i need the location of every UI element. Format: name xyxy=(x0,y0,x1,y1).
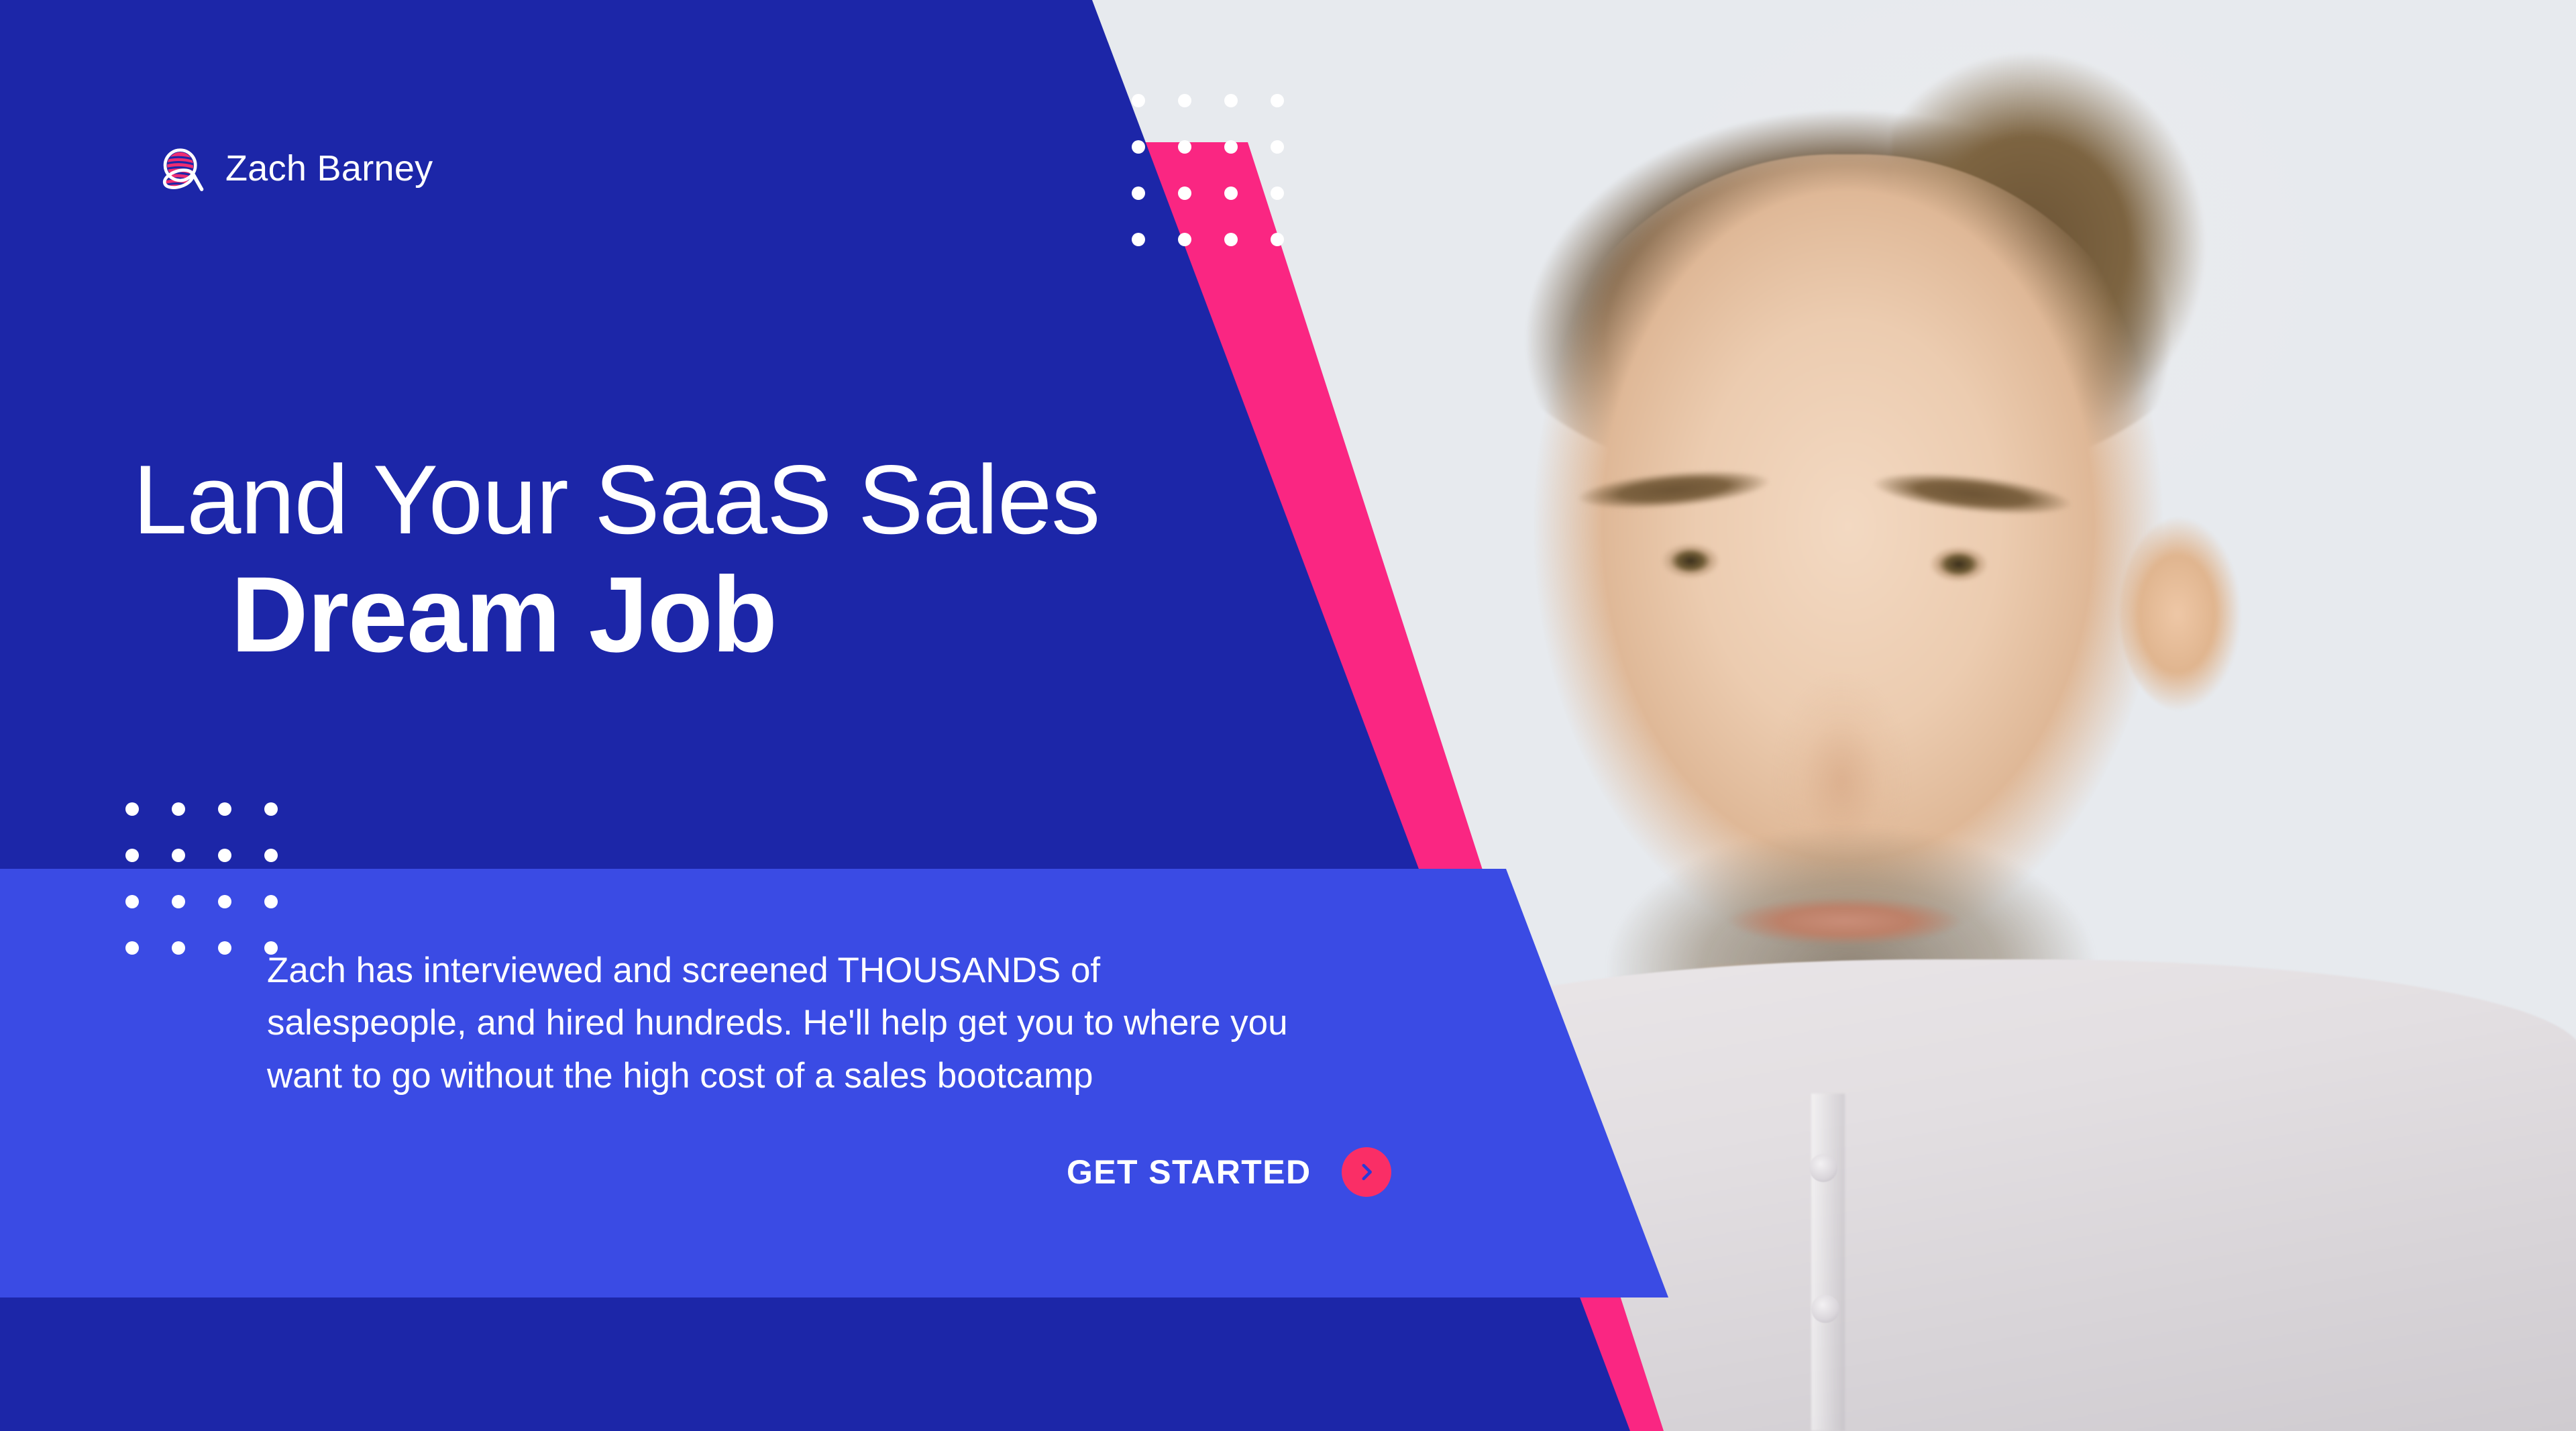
brand-logo[interactable]: Zach Barney xyxy=(156,142,433,195)
chevron-right-icon[interactable] xyxy=(1342,1147,1391,1197)
brand-name: Zach Barney xyxy=(225,150,433,187)
get-started-button[interactable]: GET STARTED xyxy=(1067,1147,1391,1197)
magnifier-fingerprint-logo-icon xyxy=(156,142,208,195)
page-title: Land Your SaaS Sales Dream Job xyxy=(133,451,1313,671)
body-paragraph: Zach has interviewed and screened THOUSA… xyxy=(267,945,1300,1102)
hero-banner: Zach Barney Land Your SaaS Sales Dream J… xyxy=(0,0,2576,1431)
headline-line-1: Land Your SaaS Sales xyxy=(133,451,1313,549)
get-started-label: GET STARTED xyxy=(1067,1153,1311,1191)
headline-line-2: Dream Job xyxy=(133,558,1313,671)
